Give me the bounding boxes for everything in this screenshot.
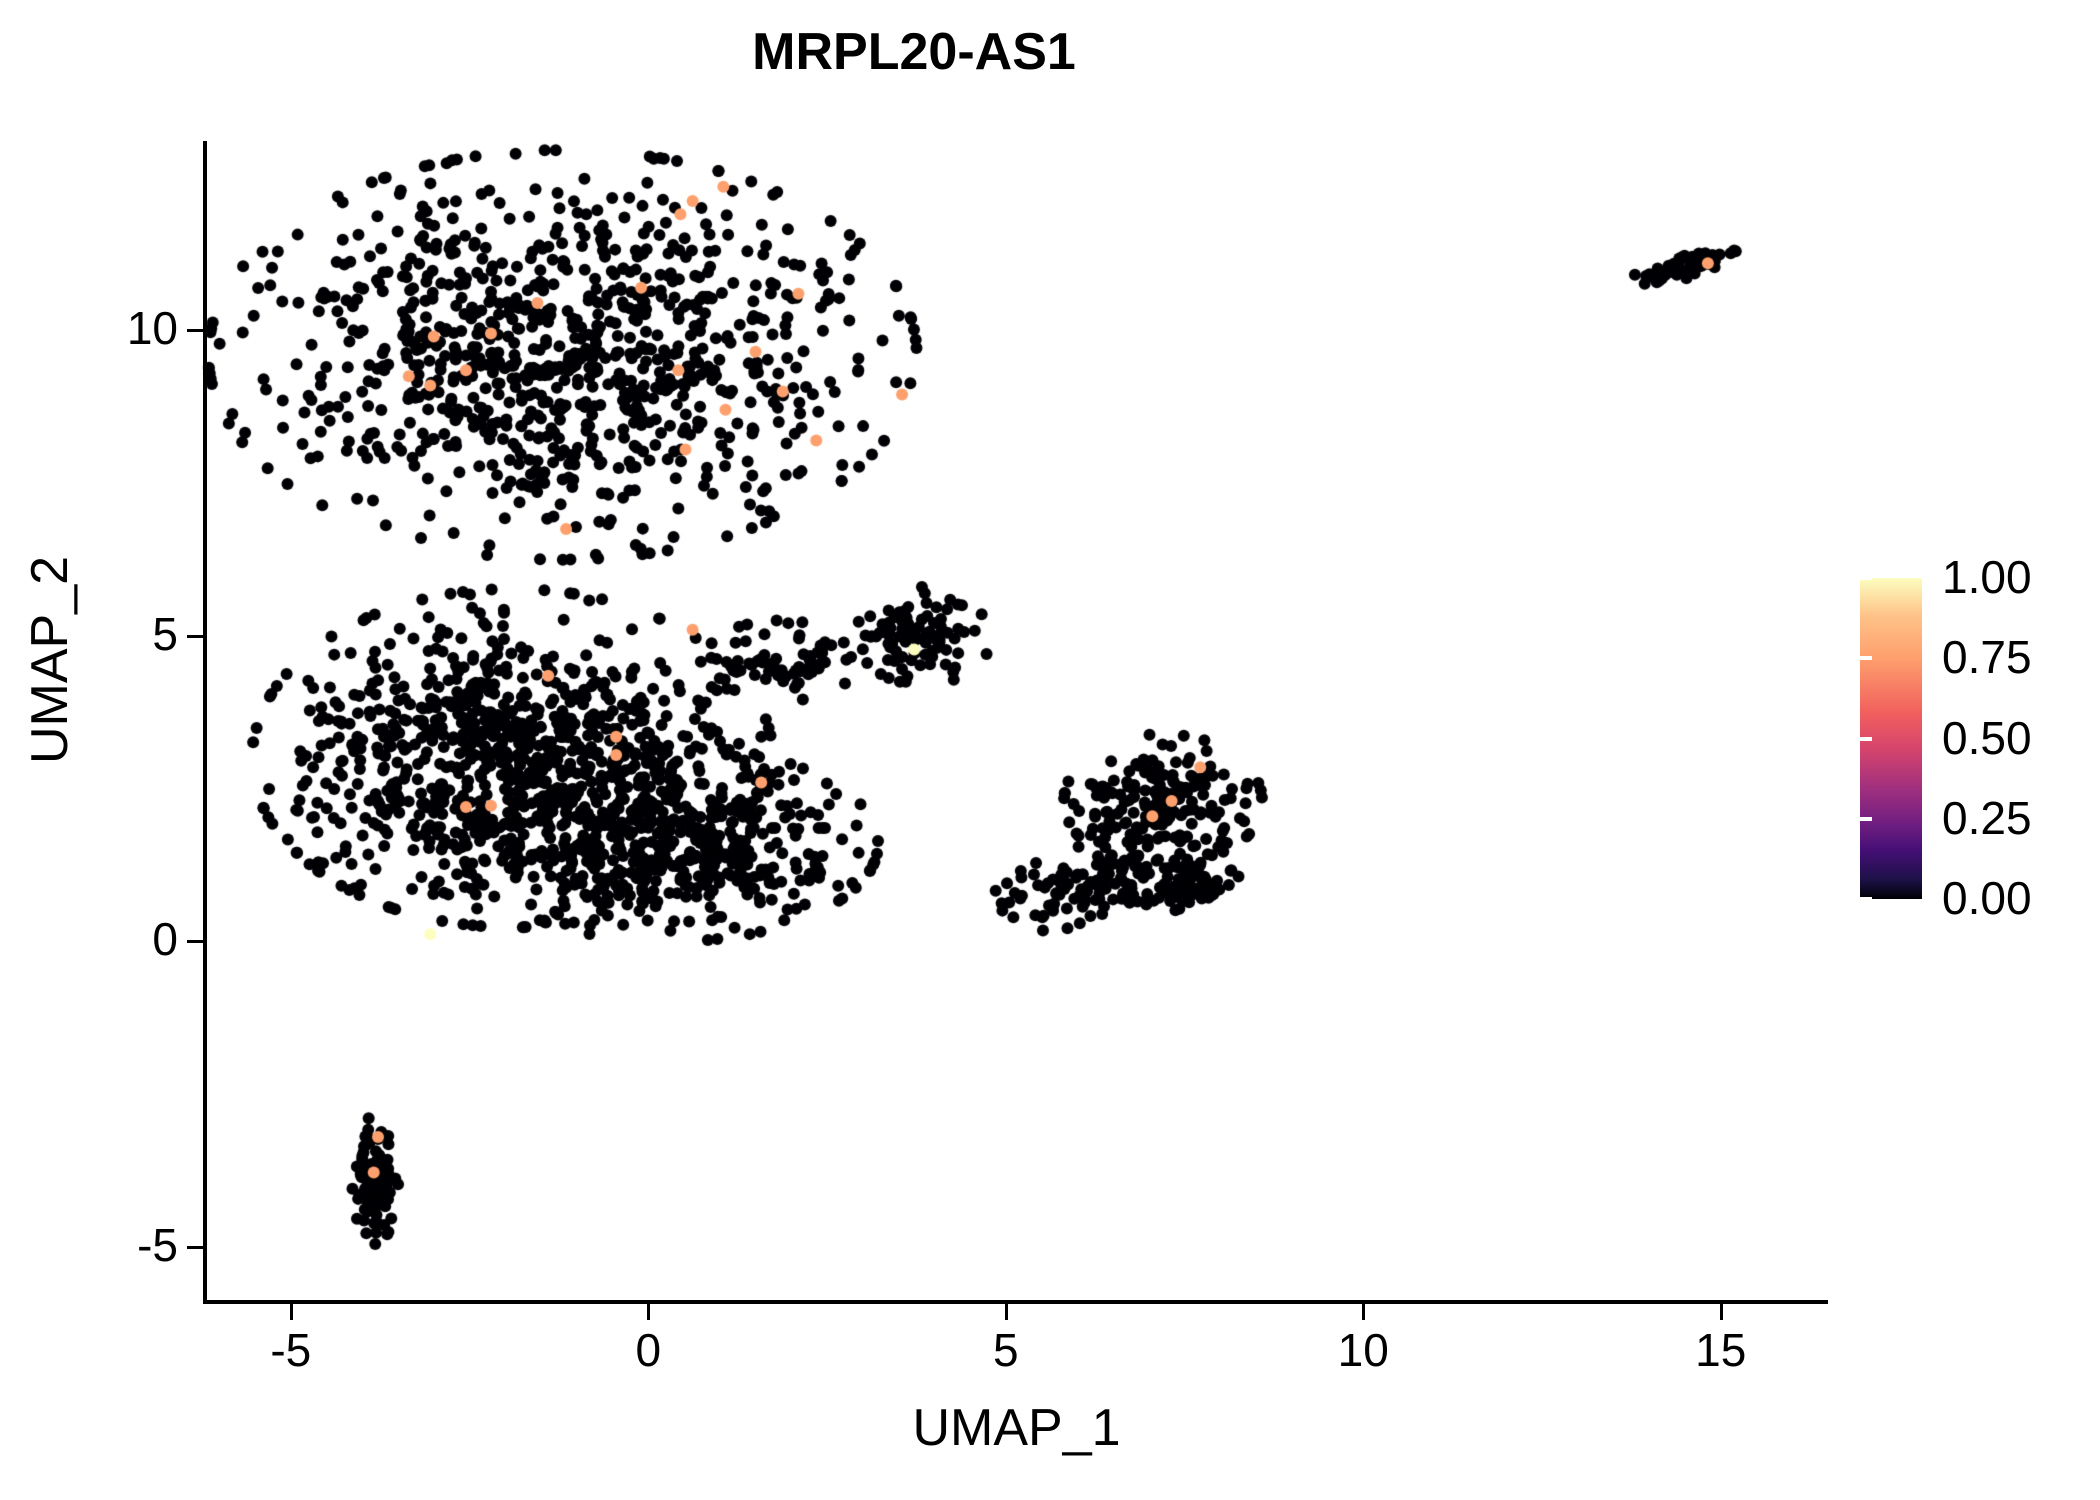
x-tick — [1362, 1304, 1365, 1320]
x-tick — [1005, 1304, 1008, 1320]
x-tick-label: -5 — [191, 1326, 391, 1374]
colorbar-tick-label: 0.50 — [1942, 715, 2032, 761]
y-tick — [187, 940, 203, 943]
y-axis-label-wrapper: UMAP_2 — [20, 80, 80, 1240]
colorbar-tick-label: 0.00 — [1942, 875, 2032, 921]
colorbar-tick-mark — [1860, 737, 1872, 741]
y-axis-line — [203, 141, 207, 1304]
x-axis-label: UMAP_1 — [205, 1398, 1828, 1458]
page-title: MRPL20-AS1 — [0, 26, 1828, 78]
colorbar-tick-mark — [2048, 897, 2060, 901]
y-tick — [187, 635, 203, 638]
colorbar-tick-label: 0.75 — [1942, 634, 2032, 680]
colorbar-tick-mark — [2048, 576, 2060, 580]
colorbar-tick-mark — [1860, 817, 1872, 821]
colorbar-tick-mark — [1860, 897, 1872, 901]
umap-feature-plot: MRPL20-AS1 -5051015 -50510 UMAP_1 UMAP_2… — [0, 0, 2100, 1500]
colorbar-tick-mark — [2048, 817, 2060, 821]
colorbar-tick-mark — [1860, 576, 1872, 580]
x-axis-line — [203, 1300, 1828, 1304]
x-tick — [1720, 1304, 1723, 1320]
x-tick — [647, 1304, 650, 1320]
y-tick — [187, 1246, 203, 1249]
colorbar-tick-mark — [2048, 737, 2060, 741]
colorbar-tick-mark — [2048, 656, 2060, 660]
colorbar-tick-label: 1.00 — [1942, 554, 2032, 600]
x-tick-label: 0 — [548, 1326, 748, 1374]
colorbar-tick-mark — [1860, 656, 1872, 660]
x-tick-label: 15 — [1621, 1326, 1821, 1374]
colorbar-tick-label: 0.25 — [1942, 795, 2032, 841]
x-tick-label: 5 — [906, 1326, 1106, 1374]
x-tick — [290, 1304, 293, 1320]
plot-panel — [205, 141, 1828, 1302]
colorbar-legend: 1.000.750.500.250.00 — [1860, 578, 2060, 908]
x-tick-label: 10 — [1263, 1326, 1463, 1374]
y-axis-label: UMAP_2 — [21, 556, 79, 764]
y-tick — [187, 329, 203, 332]
